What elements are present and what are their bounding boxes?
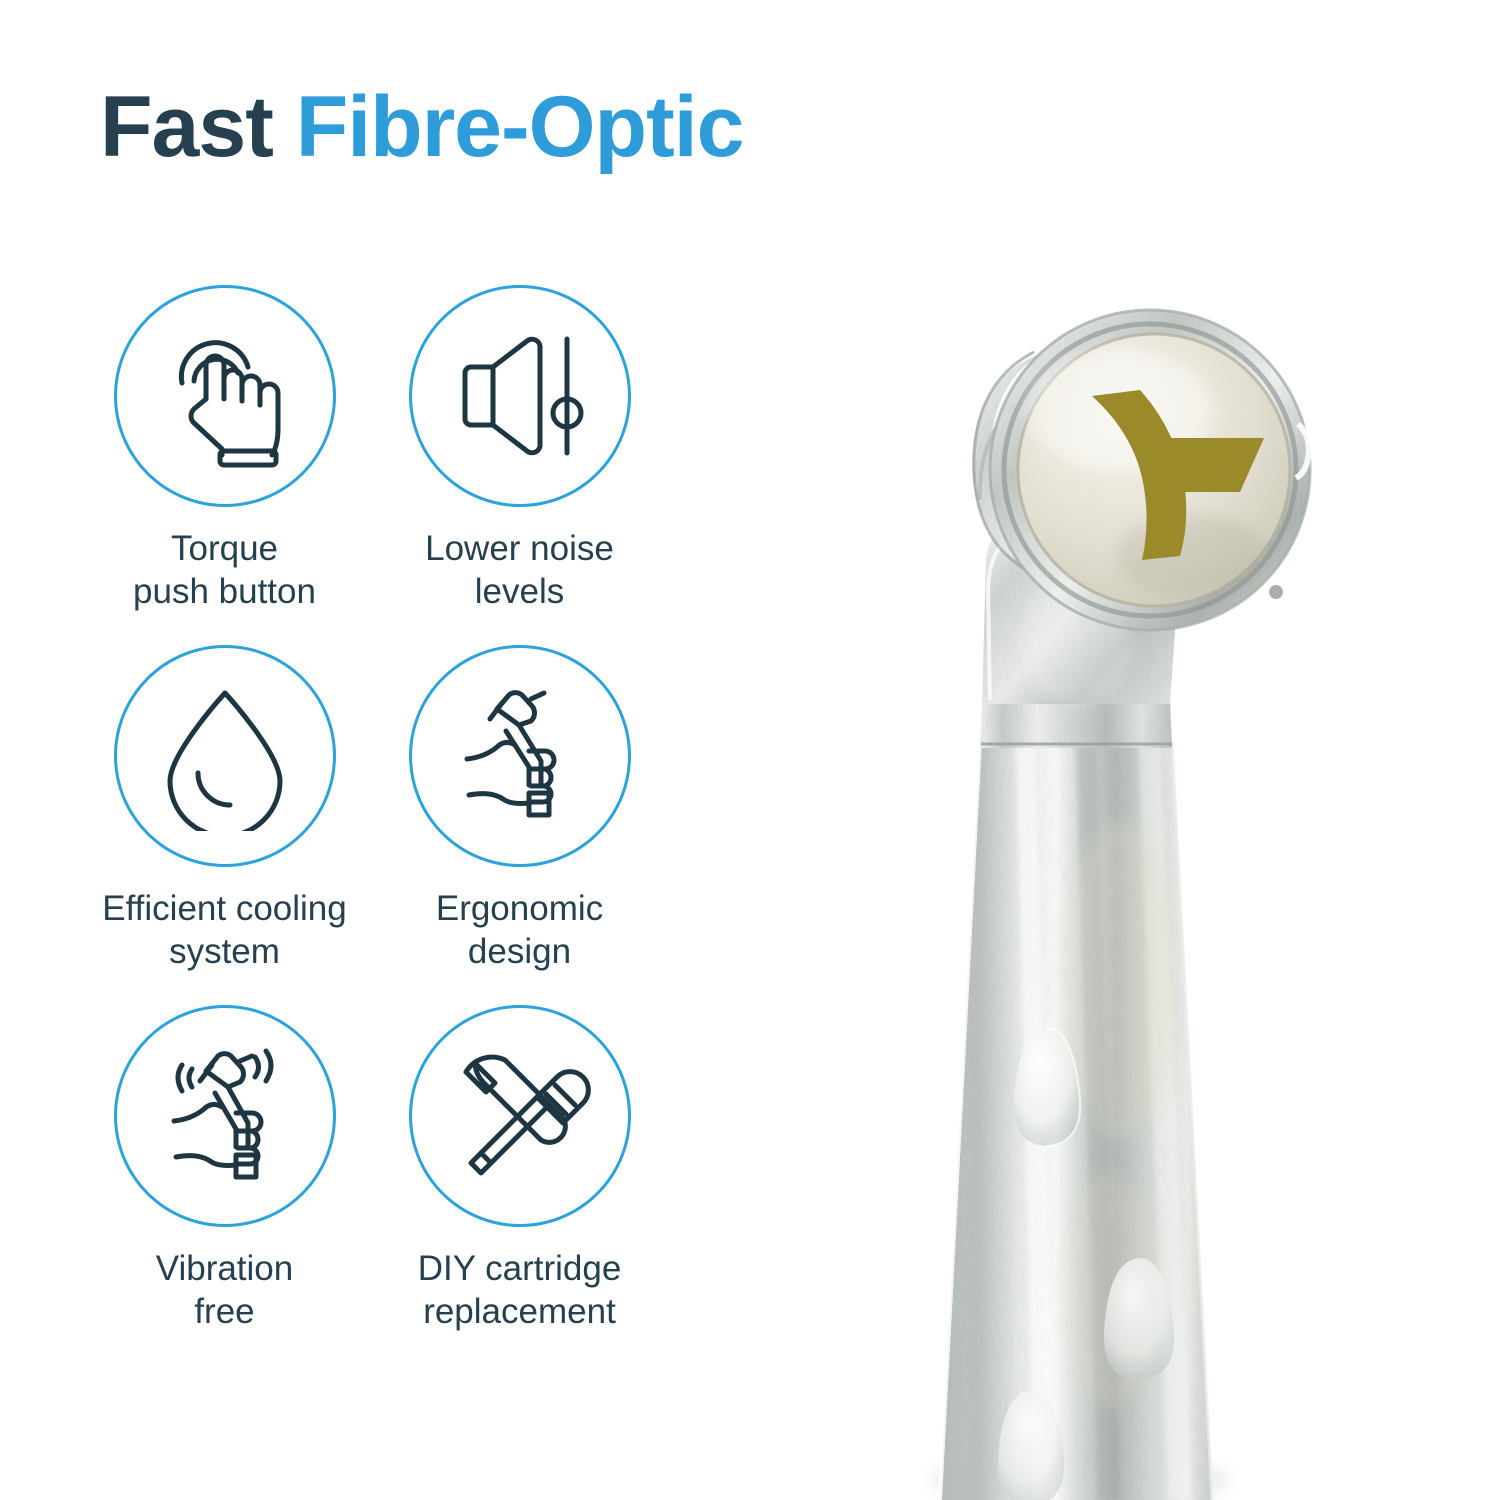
product-feature-infographic: Fast Fibre-Optic <box>0 0 1500 1500</box>
feature-label: Vibration free <box>156 1248 294 1333</box>
feature-label: Ergonomic design <box>436 888 603 973</box>
water-drop-icon <box>114 645 336 867</box>
product-image-dental-handpiece <box>820 0 1500 1500</box>
feature-label: DIY cartridge replacement <box>418 1248 622 1333</box>
feature-item-lower-noise-levels: Lower noise levels <box>387 285 652 645</box>
speaker-volume-slider-icon <box>409 285 631 507</box>
wrench-screwdriver-icon <box>409 1005 631 1227</box>
feature-label: Lower noise levels <box>425 528 614 613</box>
feature-item-efficient-cooling-system: Efficient cooling system <box>92 645 357 1005</box>
feature-label: Efficient cooling system <box>102 888 347 973</box>
title-word-fast: Fast <box>100 79 273 175</box>
vibrating-handpiece-icon <box>114 1005 336 1227</box>
title-word-fibre-optic: Fibre-Optic <box>296 79 744 175</box>
feature-item-vibration-free: Vibration free <box>92 1005 357 1365</box>
feature-item-diy-cartridge-replacement: DIY cartridge replacement <box>387 1005 652 1365</box>
hand-holding-handpiece-icon <box>409 645 631 867</box>
feature-label: Torque push button <box>133 528 316 613</box>
feature-item-ergonomic-design: Ergonomic design <box>387 645 652 1005</box>
hand-tap-icon <box>114 285 336 507</box>
feature-grid: Torque push button Lower noise levels <box>92 285 772 1365</box>
feature-item-torque-push-button: Torque push button <box>92 285 357 645</box>
page-title: Fast Fibre-Optic <box>100 82 743 172</box>
